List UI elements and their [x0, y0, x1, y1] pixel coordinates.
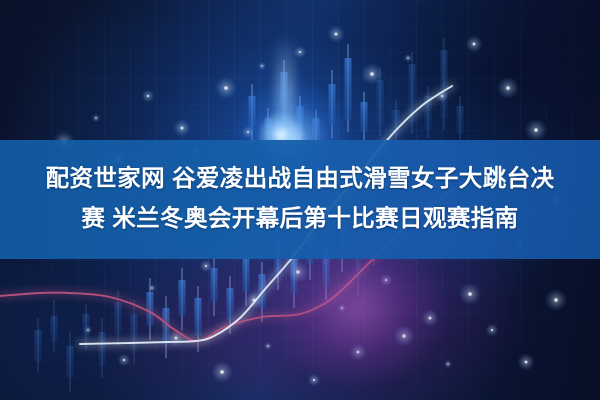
banner-image: 配资世家网 谷爱凌出战自由式滑雪女子大跳台决 赛 米兰冬奥会开幕后第十比赛日观赛…: [0, 0, 600, 400]
headline-line-2: 赛 米兰冬奥会开幕后第十比赛日观赛指南: [0, 198, 600, 238]
headline-text: 配资世家网 谷爱凌出战自由式滑雪女子大跳台决 赛 米兰冬奥会开幕后第十比赛日观赛…: [0, 158, 600, 238]
headline-line-1: 配资世家网 谷爱凌出战自由式滑雪女子大跳台决: [0, 158, 600, 198]
